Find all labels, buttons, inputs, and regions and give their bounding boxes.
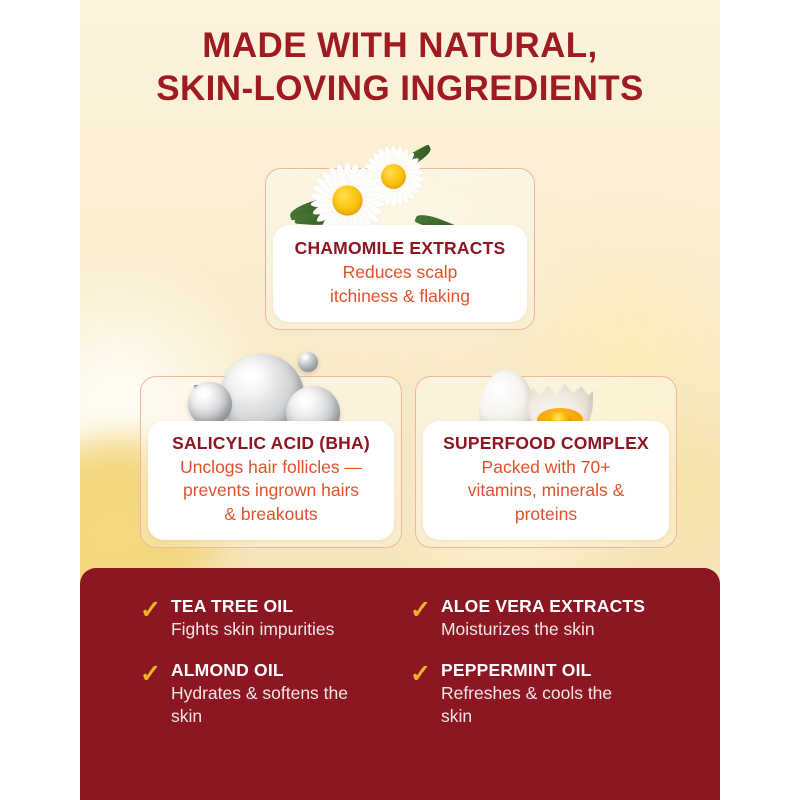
- card-description-line: Reduces scalp: [283, 261, 517, 284]
- infographic-poster: MADE WITH NATURAL, SKIN-LOVING INGREDIEN…: [80, 0, 720, 800]
- check-icon: ✓: [140, 662, 161, 687]
- page-title-line-1: MADE WITH NATURAL,: [80, 24, 720, 67]
- card-text-panel: CHAMOMILE EXTRACTS Reduces scalp itchine…: [273, 225, 527, 322]
- benefit-item-aloe-vera-extracts: ✓ ALOE VERA EXTRACTS Moisturizes the ski…: [410, 596, 672, 640]
- card-text-panel: SALICYLIC ACID (BHA) Unclogs hair follic…: [148, 421, 394, 540]
- benefit-item-tea-tree-oil: ✓ TEA TREE OIL Fights skin impurities: [140, 596, 402, 640]
- benefit-description: Fights skin impurities: [171, 618, 334, 640]
- card-description-line: & breakouts: [158, 503, 384, 526]
- benefit-title: PEPPERMINT OIL: [441, 660, 592, 680]
- benefit-title: ALOE VERA EXTRACTS: [441, 596, 645, 616]
- benefit-title: ALMOND OIL: [171, 660, 284, 680]
- benefit-description: Refreshes & cools the skin: [441, 682, 616, 727]
- molecule-sphere-small: [188, 382, 232, 426]
- card-description-line: itchiness & flaking: [283, 285, 517, 308]
- page-title: MADE WITH NATURAL, SKIN-LOVING INGREDIEN…: [80, 24, 720, 111]
- benefit-item-almond-oil: ✓ ALMOND OIL Hydrates & softens the skin: [140, 660, 402, 727]
- molecule-sphere-tiny: [298, 352, 318, 372]
- daisy-center: [381, 164, 406, 189]
- benefits-panel: ✓ TEA TREE OIL Fights skin impurities ✓ …: [80, 568, 720, 800]
- card-description-line: proteins: [433, 503, 659, 526]
- daisy-center: [332, 185, 362, 215]
- card-description-line: vitamins, minerals &: [433, 479, 659, 502]
- ingredient-card-salicylic-acid: BHA SALICYLIC ACID (BHA) Unclogs hair fo…: [140, 348, 402, 548]
- card-title: CHAMOMILE EXTRACTS: [283, 238, 517, 259]
- ingredient-card-chamomile: CHAMOMILE EXTRACTS Reduces scalp itchine…: [265, 140, 535, 330]
- ingredient-card-superfood: SUPERFOOD COMPLEX Packed with 70+ vitami…: [415, 348, 677, 548]
- card-title: SALICYLIC ACID (BHA): [158, 433, 384, 454]
- benefit-description: Hydrates & softens the skin: [171, 682, 376, 727]
- check-icon: ✓: [140, 598, 161, 623]
- card-description-line: Unclogs hair follicles —: [158, 456, 384, 479]
- card-description-line: prevents ingrown hairs: [158, 479, 384, 502]
- benefit-title: TEA TREE OIL: [171, 596, 293, 616]
- card-text-panel: SUPERFOOD COMPLEX Packed with 70+ vitami…: [423, 421, 669, 540]
- check-icon: ✓: [410, 598, 431, 623]
- page-title-line-2: SKIN-LOVING INGREDIENTS: [80, 67, 720, 110]
- check-icon: ✓: [410, 662, 431, 687]
- benefits-grid: ✓ TEA TREE OIL Fights skin impurities ✓ …: [80, 596, 720, 727]
- card-description-line: Packed with 70+: [433, 456, 659, 479]
- card-title: SUPERFOOD COMPLEX: [433, 433, 659, 454]
- benefit-item-peppermint-oil: ✓ PEPPERMINT OIL Refreshes & cools the s…: [410, 660, 672, 727]
- benefit-description: Moisturizes the skin: [441, 618, 645, 640]
